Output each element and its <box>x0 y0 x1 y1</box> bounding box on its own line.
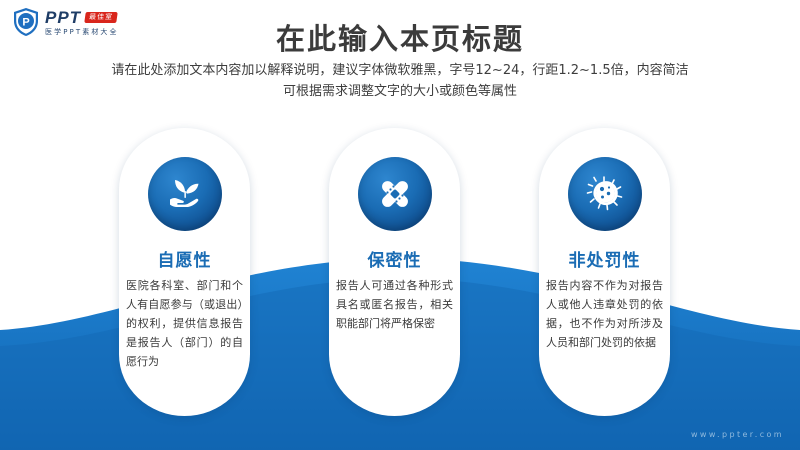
feature-cards: 自愿性 医院各科室、部门和个人有自愿参与（或退出）的权利，提供信息报告是报告人（… <box>0 128 800 423</box>
feature-card[interactable]: 非处罚性 报告内容不作为对报告人或他人违章处罚的依据，也不作为对所涉及人员和部门… <box>539 128 670 416</box>
page-title: 在此输入本页标题 <box>0 16 800 58</box>
subtitle-line-2: 可根据需求调整文字的大小或颜色等属性 <box>0 81 800 102</box>
bacteria-germ-icon <box>568 157 642 231</box>
card-title: 自愿性 <box>119 246 250 271</box>
feature-card[interactable]: 保密性 报告人可通过各种形式具名或匿名报告，相关职能部门将严格保密 <box>329 128 460 416</box>
card-title: 保密性 <box>329 246 460 271</box>
footer-website: www.ppter.com <box>691 430 784 439</box>
crossed-bandage-icon <box>358 157 432 231</box>
feature-card[interactable]: 自愿性 医院各科室、部门和个人有自愿参与（或退出）的权利，提供信息报告是报告人（… <box>119 128 250 416</box>
hand-holding-leaf-icon <box>148 157 222 231</box>
card-title: 非处罚性 <box>539 246 670 271</box>
subtitle-line-1: 请在此处添加文本内容加以解释说明，建议字体微软雅黑，字号12~24，行距1.2~… <box>0 60 800 81</box>
card-body: 报告人可通过各种形式具名或匿名报告，相关职能部门将严格保密 <box>336 276 453 333</box>
page-subtitle: 请在此处添加文本内容加以解释说明，建议字体微软雅黑，字号12~24，行距1.2~… <box>0 60 800 102</box>
slide: P PPT 最佳室 医学PPT素材大全 在此输入本页标题 请在此处添加文本内容加… <box>0 0 800 450</box>
card-body: 报告内容不作为对报告人或他人违章处罚的依据，也不作为对所涉及人员和部门处罚的依据 <box>546 276 663 352</box>
card-body: 医院各科室、部门和个人有自愿参与（或退出）的权利，提供信息报告是报告人（部门）的… <box>126 276 243 371</box>
